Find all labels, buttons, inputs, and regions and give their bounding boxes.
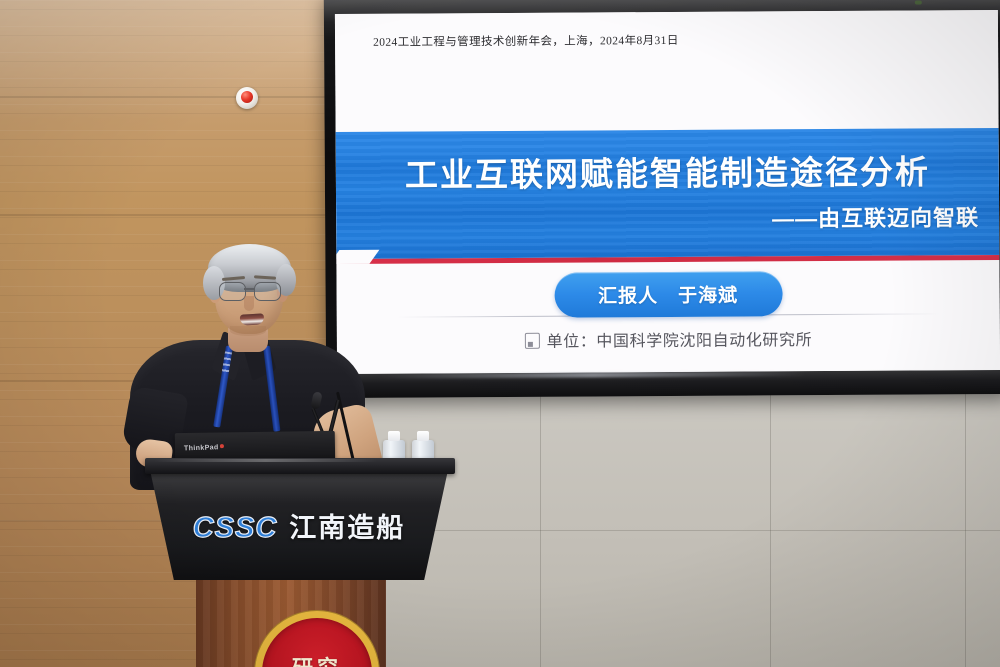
presenter-pill: 汇报人 于海斌 — [554, 271, 782, 317]
podium-logo: CSSC江南造船 — [150, 506, 448, 545]
conference-photo-scene: 2024工业工程与管理技术创新年会，上海，2024年8月31日 工业互联网赋能智… — [0, 0, 1000, 667]
slide-subtitle: ——由互联迈向智联 — [772, 200, 979, 233]
affiliation-row: 单位：中国科学院沈阳自动化研究所 — [337, 325, 1000, 353]
glasses-lens-right — [254, 282, 281, 301]
presentation-slide: 2024工业工程与管理技术创新年会，上海，2024年8月31日 工业互联网赋能智… — [335, 10, 1000, 374]
laptop-brand-label: ThinkPad — [184, 444, 224, 452]
display-screen: 2024工业工程与管理技术创新年会，上海，2024年8月31日 工业互联网赋能智… — [335, 10, 1000, 374]
glasses-lens-left — [219, 282, 246, 301]
display-bottom-reflection — [326, 368, 1000, 398]
wood-seam — [0, 96, 336, 98]
speaker-chin-shadow — [230, 326, 266, 336]
power-led-icon — [915, 0, 922, 4]
building-icon — [525, 333, 540, 349]
red-alarm-light-icon — [236, 87, 258, 109]
jiangnan-shipyard-wordmark: 江南造船 — [289, 513, 405, 543]
presentation-display: 2024工业工程与管理技术创新年会，上海，2024年8月31日 工业互联网赋能智… — [324, 0, 1000, 398]
wood-seam — [0, 214, 336, 216]
podium-front-panel: CSSC江南造船 — [150, 470, 448, 580]
slide-title: 工业互联网赋能智能制造途径分析 — [336, 145, 999, 197]
cssc-wordmark: CSSC — [193, 512, 278, 544]
slide-header-text: 2024工业工程与管理技术创新年会，上海，2024年8月31日 — [373, 32, 679, 50]
podium-top-edge — [145, 458, 455, 474]
affiliation-text: 单位：中国科学院沈阳自动化研究所 — [547, 332, 813, 351]
speaker-nose — [244, 296, 254, 311]
tile-grout-line — [336, 530, 1000, 531]
slide-title-band: 工业互联网赋能智能制造途径分析 ——由互联迈向智联 — [336, 128, 1000, 259]
emblem-text: 研究 — [262, 652, 372, 667]
